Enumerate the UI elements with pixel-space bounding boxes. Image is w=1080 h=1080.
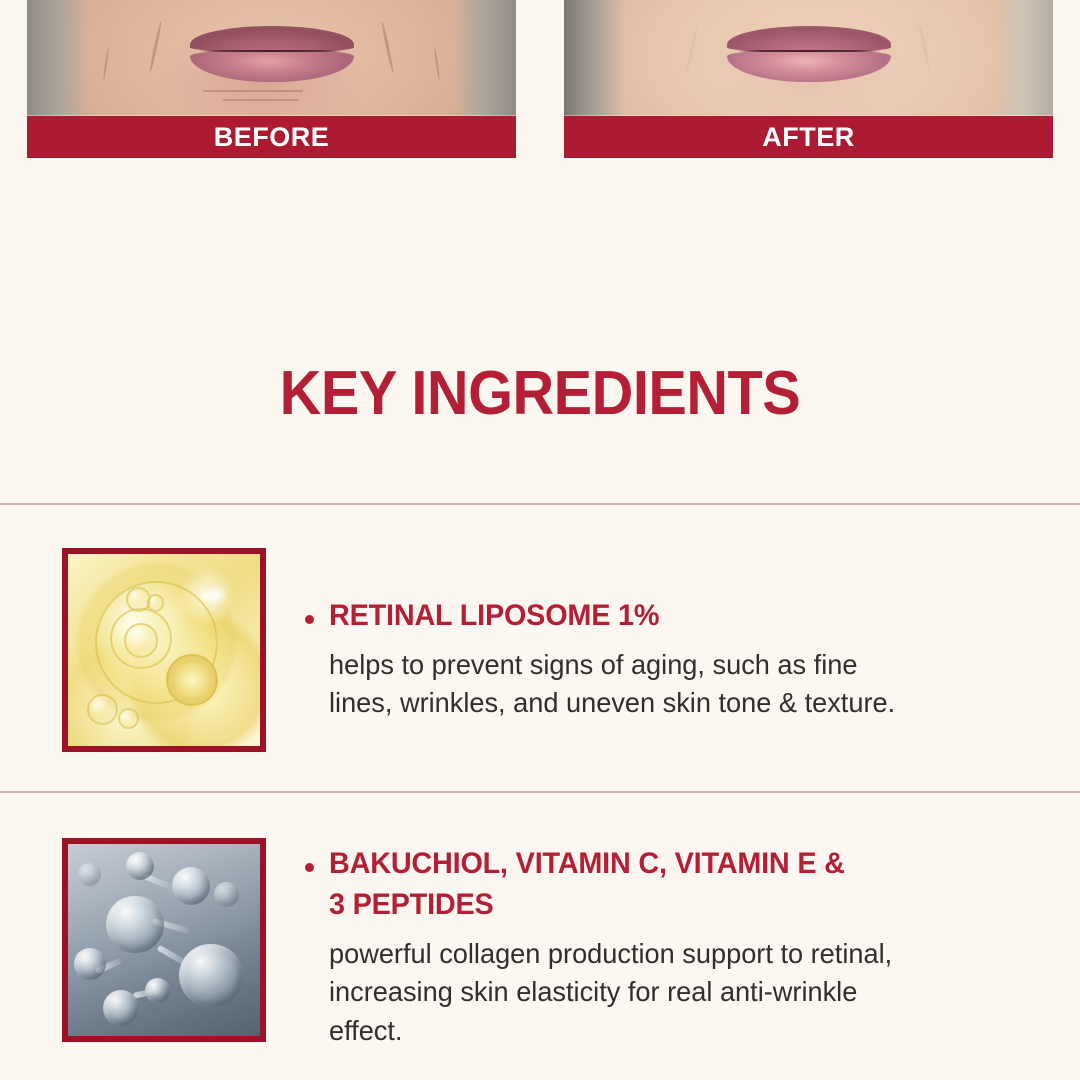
ingredient-text-block: BAKUCHIOL, VITAMIN C, VITAMIN E & 3 PEPT… <box>266 838 1080 1050</box>
ingredient-description: helps to prevent signs of aging, such as… <box>329 646 1028 723</box>
wrinkle-line <box>223 99 299 101</box>
before-after-comparison: BEFORE AFTER <box>0 0 1080 160</box>
bubble-shape <box>147 594 164 611</box>
ingredient-heading: RETINAL LIPOSOME 1% <box>305 596 1050 637</box>
ingredient-heading: BAKUCHIOL, VITAMIN C, VITAMIN E & 3 PEPT… <box>305 844 1050 926</box>
bubble-shape <box>118 708 139 729</box>
after-panel: AFTER <box>564 0 1053 158</box>
upper-lip <box>727 26 891 52</box>
bubble-shape <box>166 654 218 706</box>
divider-middle <box>0 791 1080 793</box>
highlight-spot <box>206 585 227 606</box>
upper-lip <box>190 26 354 52</box>
ingredient-description: powerful collagen production support to … <box>329 935 1028 1051</box>
after-label: AFTER <box>564 116 1053 158</box>
lips <box>727 26 891 84</box>
molecule-sphere <box>179 944 242 1007</box>
before-panel: BEFORE <box>27 0 516 158</box>
golden-oil-bubbles-image <box>62 548 266 752</box>
bubble-shape <box>124 623 159 658</box>
before-label: BEFORE <box>27 116 516 158</box>
ingredient-name: RETINAL LIPOSOME 1% <box>329 596 659 637</box>
after-photo <box>564 0 1053 118</box>
lower-lip <box>727 50 891 82</box>
divider-top <box>0 503 1080 505</box>
lip-line <box>736 50 880 52</box>
molecule-sphere <box>106 896 164 954</box>
bubble-shape <box>87 694 118 725</box>
before-photo <box>27 0 516 118</box>
ingredient-name: BAKUCHIOL, VITAMIN C, VITAMIN E & 3 PEPT… <box>329 844 845 926</box>
ingredient-row: BAKUCHIOL, VITAMIN C, VITAMIN E & 3 PEPT… <box>0 838 1080 1050</box>
silver-molecule-structure-image <box>62 838 266 1042</box>
wrinkle-line <box>203 90 303 92</box>
hair-right <box>991 0 1053 118</box>
hair-left <box>564 0 626 118</box>
bullet-icon <box>305 615 314 624</box>
lips <box>190 26 354 84</box>
lower-lip <box>190 50 354 82</box>
hair-left <box>27 0 89 118</box>
molecule-sphere <box>103 990 139 1026</box>
ingredient-text-block: RETINAL LIPOSOME 1% helps to prevent sig… <box>266 548 1080 723</box>
molecule-sphere <box>145 978 170 1003</box>
hair-right <box>454 0 516 118</box>
ingredient-row: RETINAL LIPOSOME 1% helps to prevent sig… <box>0 548 1080 752</box>
page-title: KEY INGREDIENTS <box>38 358 1042 429</box>
lip-line <box>199 50 343 52</box>
bullet-icon <box>305 863 314 872</box>
molecule-sphere <box>78 863 101 886</box>
